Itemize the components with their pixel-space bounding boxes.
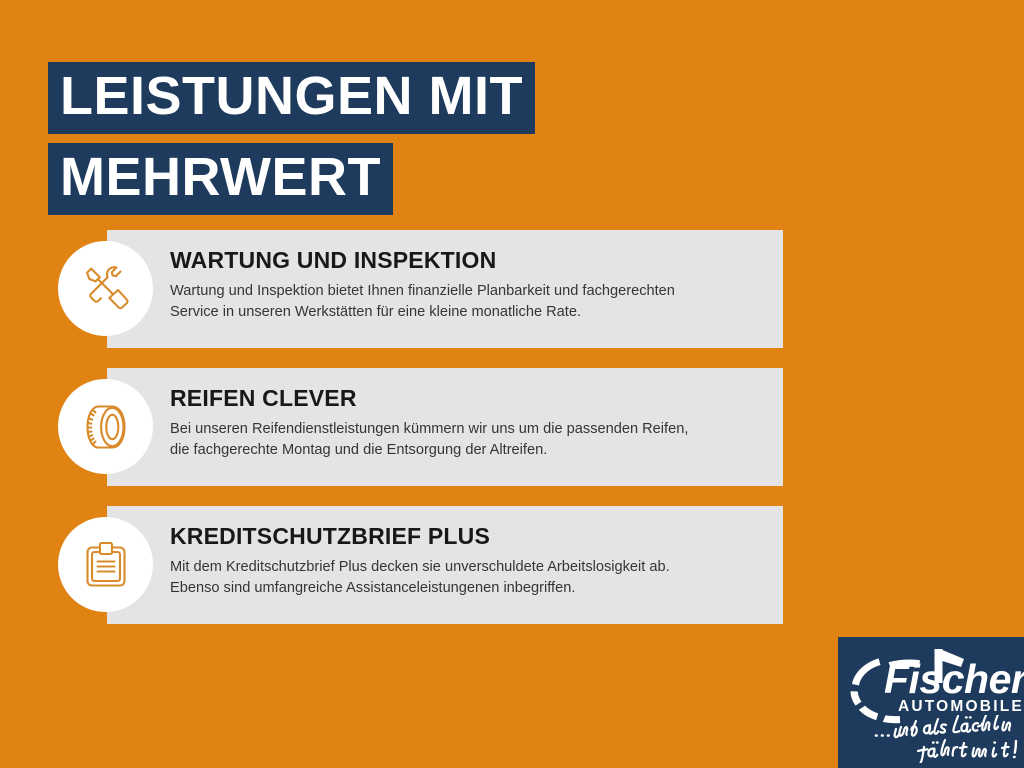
company-logo: Fischer AUTOMOBILE [838,637,1024,768]
card-text-block: KREDITSCHUTZBRIEF PLUS Mit dem Kreditsch… [170,524,761,600]
card-text-block: REIFEN CLEVER Bei unseren Reifendienstle… [170,386,761,462]
card-body: Wartung und Inspektion bietet Ihnen fina… [170,281,761,323]
card-body-line-1: Wartung und Inspektion bietet Ihnen fina… [170,283,675,299]
card-body-line-1: Bei unseren Reifendienstleistungen kümme… [170,421,688,437]
tire-icon [79,400,133,454]
service-card-list: WARTUNG UND INSPEKTION Wartung und Inspe… [0,230,1024,644]
card-panel: WARTUNG UND INSPEKTION Wartung und Inspe… [107,230,783,348]
service-card-reifen-clever[interactable]: REIFEN CLEVER Bei unseren Reifendienstle… [0,368,1024,486]
headline-line-2: MEHRWERT [48,143,393,215]
card-title: REIFEN CLEVER [170,386,761,411]
card-body-line-2: die fachgerechte Montag und die Entsorgu… [170,442,547,458]
card-body-line-2: Service in unseren Werkstätten für eine … [170,304,581,320]
card-body-line-2: Ebenso sind umfangreiche Assistanceleist… [170,580,575,596]
card-panel: KREDITSCHUTZBRIEF PLUS Mit dem Kreditsch… [107,506,783,624]
slide-canvas: LEISTUNGEN MIT MEHRWERT WARTUNG UND INSP… [0,0,1024,768]
card-title: KREDITSCHUTZBRIEF PLUS [170,524,761,549]
card-body: Mit dem Kreditschutzbrief Plus decken si… [170,557,761,599]
card-panel: REIFEN CLEVER Bei unseren Reifendienstle… [107,368,783,486]
service-card-kreditschutzbrief-plus[interactable]: KREDITSCHUTZBRIEF PLUS Mit dem Kreditsch… [0,506,1024,624]
card-body-line-1: Mit dem Kreditschutzbrief Plus decken si… [170,559,670,575]
headline-line-1: LEISTUNGEN MIT [48,62,535,134]
page-title: LEISTUNGEN MIT MEHRWERT [48,62,535,224]
card-text-block: WARTUNG UND INSPEKTION Wartung und Inspe… [170,248,761,324]
card-body: Bei unseren Reifendienstleistungen kümme… [170,419,761,461]
card-icon-badge [58,517,153,612]
card-icon-badge [58,379,153,474]
logo-brand-name: Fischer [884,659,1024,700]
wrench-screwdriver-icon [79,262,133,316]
clipboard-icon [80,539,132,591]
card-title: WARTUNG UND INSPEKTION [170,248,761,273]
card-icon-badge [58,241,153,336]
logo-subtitle: AUTOMOBILE [898,699,1024,715]
logo-tagline-script [868,715,1024,763]
service-card-wartung-und-inspektion[interactable]: WARTUNG UND INSPEKTION Wartung und Inspe… [0,230,1024,348]
